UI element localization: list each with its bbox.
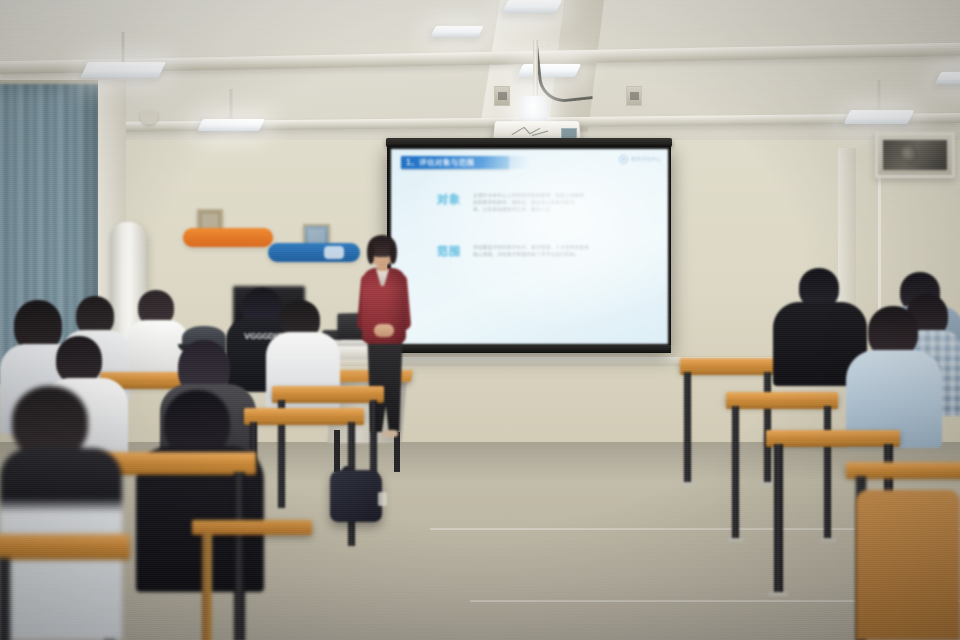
chair-seat (192, 520, 312, 535)
slide-section-scope: 范围 评估覆盖学校的教学条件、教学管理、人才培养质量等 核心领域，涉及教学管理的… (437, 245, 589, 259)
slide-section-object: 对象 主要针对本科以上的在校学生和教师、包括上岗教师 在职教师和教师、辅导员、班… (437, 193, 584, 215)
desk-edge (726, 403, 838, 409)
wall-speaker (875, 132, 955, 178)
light-panel-2 (200, 119, 262, 131)
student-head (56, 336, 102, 384)
light-panel-surface (502, 0, 562, 13)
light-panel-surface (430, 26, 483, 37)
slide-section-body: 评估覆盖学校的教学条件、教学管理、人才培养质量等 核心领域，涉及教学管理的各个环… (473, 245, 589, 259)
backpack-tag (378, 492, 387, 506)
classroom-scene: 1、评估对象与范围 教育评估中心 对象 主要针对本科以上的在校学生和教师、包括上… (0, 0, 960, 640)
light-panel-4 (433, 26, 481, 37)
desk-leg (774, 444, 783, 594)
desk-edge (244, 419, 364, 425)
slide-body-line: 等，以及其他相关的工作、服务人员 (473, 207, 584, 214)
desk-edge (766, 441, 900, 447)
light-panel-3 (505, 0, 559, 13)
desk-leg (684, 372, 691, 484)
blue-panel-highlight (324, 246, 344, 259)
teacher-hair-side-left (367, 242, 374, 264)
desk-foot (820, 538, 836, 542)
wall-socket-right (626, 86, 642, 106)
chair-leg (202, 534, 212, 640)
light-rod (230, 89, 233, 121)
slide-body-line: 主要针对本科以上的在校学生和教师、包括上岗教师 (473, 193, 584, 200)
slide-title: 1、评估对象与范围 (406, 157, 474, 168)
desk-edge (272, 397, 384, 403)
slide-body-line: 在职教师和教师、辅导员、班主任以及教学秘书 (473, 200, 584, 207)
orange-pill-panel (183, 228, 273, 247)
podium-leg (334, 430, 340, 472)
light-panel-surface (80, 62, 166, 78)
desk-edge (0, 551, 130, 560)
teacher-hair-side-right (390, 242, 397, 264)
slide-title-banner-tail (509, 156, 531, 169)
slide-body-line: 核心领域，涉及教学管理的各个环节与运行机制。 (473, 252, 589, 259)
desk-leg (234, 472, 245, 640)
speaker-grill (883, 140, 947, 170)
desk-foot (728, 538, 744, 542)
light-panel-surface (197, 119, 265, 131)
desk-foot (680, 482, 696, 486)
projector-brand-icon (510, 126, 557, 137)
student-left-8 (0, 386, 120, 640)
floor-backpack (330, 470, 382, 522)
desk-foot (768, 592, 788, 596)
student-right-frontmost (856, 490, 960, 640)
desk-leg (764, 372, 771, 484)
slide-section-label: 范围 (437, 245, 467, 258)
blue-pill-panel (268, 243, 360, 262)
screen-bottom-bar (387, 345, 671, 353)
light-rod (122, 32, 125, 64)
desk-leg (824, 406, 831, 540)
chair-back (856, 490, 960, 640)
slide-section-label: 对象 (437, 193, 467, 206)
light-panel-surface (935, 72, 960, 84)
light-rod (878, 80, 881, 112)
teacher-shoe (382, 430, 398, 437)
wall-socket-left (494, 86, 510, 106)
light-panel-6 (847, 110, 911, 124)
slide-body-line: 评估覆盖学校的教学条件、教学管理、人才培养质量等 (473, 245, 589, 252)
podium-leg (394, 432, 400, 472)
desk-leg (732, 406, 739, 540)
slide-section-body: 主要针对本科以上的在校学生和教师、包括上岗教师 在职教师和教师、辅导员、班主任以… (473, 193, 584, 215)
speaker-cone-icon (899, 144, 919, 166)
slide-logo: 教育评估中心 (619, 155, 661, 164)
light-panel-7 (938, 72, 960, 84)
projection-screen-frame: 1、评估对象与范围 教育评估中心 对象 主要针对本科以上的在校学生和教师、包括上… (387, 145, 671, 351)
slide-logo-text: 教育评估中心 (631, 156, 661, 163)
projection-screen: 1、评估对象与范围 教育评估中心 对象 主要针对本科以上的在校学生和教师、包括上… (391, 149, 668, 344)
wall-hook (140, 110, 158, 124)
light-panel-surface (844, 110, 915, 124)
teacher (358, 238, 410, 438)
circle-mark-icon (619, 155, 628, 164)
desk-leg (0, 558, 10, 640)
light-panel-1 (84, 62, 162, 78)
teacher-hands (374, 324, 394, 337)
desk-edge (680, 369, 776, 375)
student-right-2 (846, 306, 942, 448)
